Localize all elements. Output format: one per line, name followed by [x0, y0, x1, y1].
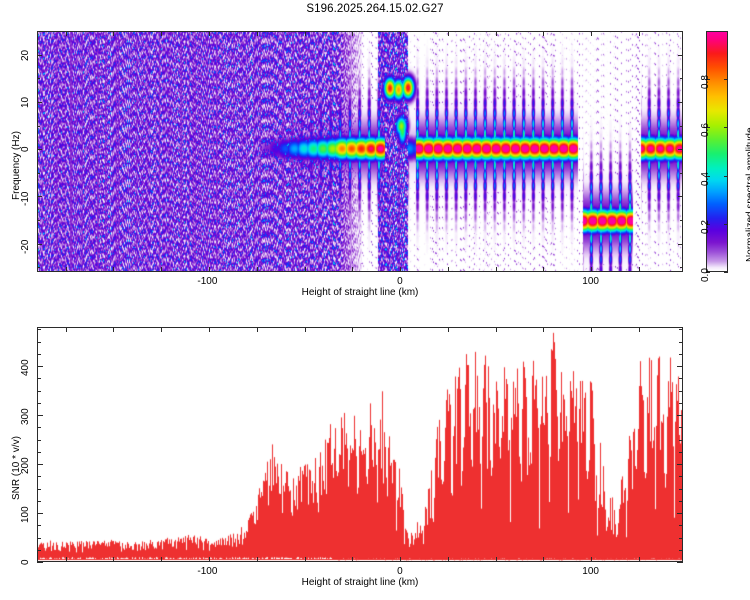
axis-tick: [257, 31, 258, 36]
axis-tick: [543, 557, 544, 562]
axis-tick: [37, 244, 42, 245]
axis-tick: [209, 267, 210, 272]
axis-tick: [639, 267, 640, 272]
axis-tick: [37, 476, 41, 477]
axis-tick-label: -100: [197, 566, 217, 577]
axis-tick: [724, 176, 728, 177]
axis-tick: [305, 557, 306, 562]
axis-tick-label: 0: [397, 566, 403, 577]
axis-tick: [679, 550, 683, 551]
snr-panel: [37, 327, 683, 562]
axis-tick: [678, 55, 683, 56]
axis-tick-label: 100: [582, 566, 599, 577]
axis-tick: [305, 31, 306, 36]
axis-tick: [37, 391, 41, 392]
axis-tick: [209, 327, 210, 332]
spectrogram-panel: [37, 31, 683, 272]
axis-tick: [37, 550, 41, 551]
axis-tick: [352, 557, 353, 562]
axis-tick: [679, 476, 683, 477]
axis-tick: [37, 415, 43, 416]
axis-tick: [37, 378, 41, 379]
axis-tick-label: -20: [20, 239, 31, 253]
axis-tick: [680, 220, 683, 221]
axis-tick-label: 0.4: [700, 172, 711, 186]
axis-tick: [37, 267, 40, 268]
axis-tick: [113, 327, 114, 332]
axis-tick: [37, 452, 41, 453]
axis-tick: [639, 31, 640, 36]
axis-tick: [37, 501, 41, 502]
axis-tick: [724, 224, 728, 225]
axis-tick: [113, 31, 114, 36]
axis-tick: [680, 267, 683, 268]
axis-tick: [678, 149, 683, 150]
axis-tick: [543, 31, 544, 36]
axis-tick: [496, 31, 497, 36]
axis-tick: [113, 557, 114, 562]
axis-tick: [352, 327, 353, 332]
axis-tick: [37, 329, 41, 330]
axis-tick-label: 0.8: [700, 75, 711, 89]
axis-tick: [37, 342, 41, 343]
axis-tick: [37, 126, 40, 127]
axis-tick-label: 10: [20, 97, 31, 108]
axis-tick: [37, 489, 41, 490]
axis-tick: [66, 327, 67, 332]
axis-tick: [37, 538, 41, 539]
axis-tick: [37, 427, 41, 428]
axis-tick: [161, 557, 162, 562]
axis-tick: [448, 267, 449, 272]
axis-tick: [66, 267, 67, 272]
axis-tick-label: 400: [20, 360, 31, 377]
axis-tick-label: 300: [20, 409, 31, 426]
axis-tick: [591, 557, 592, 562]
snr-trace: [38, 328, 682, 561]
axis-tick: [257, 267, 258, 272]
axis-tick: [448, 557, 449, 562]
axis-tick-label: 0.6: [700, 123, 711, 137]
axis-tick: [257, 557, 258, 562]
axis-tick: [161, 327, 162, 332]
axis-tick: [678, 196, 683, 197]
colorbar-gradient: [707, 32, 727, 271]
axis-tick: [37, 196, 42, 197]
axis-tick: [724, 272, 728, 273]
axis-tick: [724, 127, 728, 128]
axis-tick: [352, 31, 353, 36]
axis-tick: [37, 173, 40, 174]
axis-tick-label: 0.2: [700, 220, 711, 234]
axis-tick: [37, 513, 43, 514]
axis-tick: [543, 327, 544, 332]
axis-tick: [209, 557, 210, 562]
axis-tick: [113, 267, 114, 272]
axis-tick: [543, 267, 544, 272]
axis-tick: [678, 102, 683, 103]
snr-xaxis-label: Height of straight line (km): [0, 577, 720, 588]
spectrogram-image: [38, 32, 682, 271]
spectrogram-yaxis-label: Frequency (Hz): [11, 131, 22, 200]
axis-tick: [37, 366, 43, 367]
axis-tick: [679, 538, 683, 539]
axis-tick: [680, 173, 683, 174]
axis-tick: [400, 267, 401, 272]
axis-tick: [679, 452, 683, 453]
axis-tick: [591, 31, 592, 36]
axis-tick: [639, 327, 640, 332]
axis-tick: [680, 78, 683, 79]
spectrogram-xaxis-label: Height of straight line (km): [0, 287, 720, 298]
axis-tick: [400, 31, 401, 36]
axis-tick: [591, 327, 592, 332]
axis-tick: [37, 102, 42, 103]
axis-tick: [679, 329, 683, 330]
axis-tick: [37, 464, 43, 465]
axis-tick: [680, 126, 683, 127]
axis-tick: [679, 501, 683, 502]
axis-tick: [679, 525, 683, 526]
axis-tick: [679, 342, 683, 343]
axis-tick: [677, 562, 683, 563]
axis-tick: [37, 55, 42, 56]
axis-tick: [679, 391, 683, 392]
axis-tick: [209, 31, 210, 36]
axis-tick: [496, 557, 497, 562]
axis-tick: [37, 440, 41, 441]
axis-tick: [677, 513, 683, 514]
colorbar-label: Normalized spectral amplitude: [745, 127, 750, 262]
axis-tick: [66, 31, 67, 36]
axis-tick: [400, 557, 401, 562]
axis-tick: [724, 79, 728, 80]
axis-tick: [37, 220, 40, 221]
axis-tick: [37, 149, 42, 150]
axis-tick: [37, 78, 40, 79]
axis-tick: [679, 403, 683, 404]
axis-tick: [677, 415, 683, 416]
axis-tick: [37, 525, 41, 526]
axis-tick-label: 0: [20, 560, 31, 566]
axis-tick-label: 0.0: [700, 268, 711, 282]
axis-tick: [305, 267, 306, 272]
axis-tick: [679, 378, 683, 379]
axis-tick: [639, 557, 640, 562]
axis-tick: [448, 327, 449, 332]
axis-tick: [678, 244, 683, 245]
axis-tick: [679, 427, 683, 428]
axis-tick: [161, 31, 162, 36]
axis-tick: [591, 267, 592, 272]
axis-tick: [679, 354, 683, 355]
axis-tick: [37, 562, 43, 563]
axis-tick: [677, 464, 683, 465]
axis-tick-label: 100: [20, 507, 31, 524]
axis-tick: [448, 31, 449, 36]
axis-tick: [161, 267, 162, 272]
axis-tick: [496, 267, 497, 272]
axis-tick: [352, 267, 353, 272]
snr-yaxis-label: SNR (10 * v/v): [11, 436, 22, 500]
axis-tick-label: 0: [397, 276, 403, 287]
axis-tick: [37, 403, 41, 404]
axis-tick-label: -100: [197, 276, 217, 287]
colorbar: [706, 31, 728, 272]
axis-tick: [400, 327, 401, 332]
axis-tick: [496, 327, 497, 332]
axis-tick: [66, 557, 67, 562]
figure-root: S196.2025.264.15.02.G27 -20-1001020-1000…: [0, 0, 750, 600]
axis-tick-label: 100: [582, 276, 599, 287]
axis-tick: [679, 440, 683, 441]
axis-tick: [679, 489, 683, 490]
axis-tick-label: 20: [20, 50, 31, 61]
axis-tick: [677, 366, 683, 367]
page-title: S196.2025.264.15.02.G27: [0, 3, 750, 15]
axis-tick: [37, 354, 41, 355]
axis-tick: [257, 327, 258, 332]
axis-tick: [305, 327, 306, 332]
